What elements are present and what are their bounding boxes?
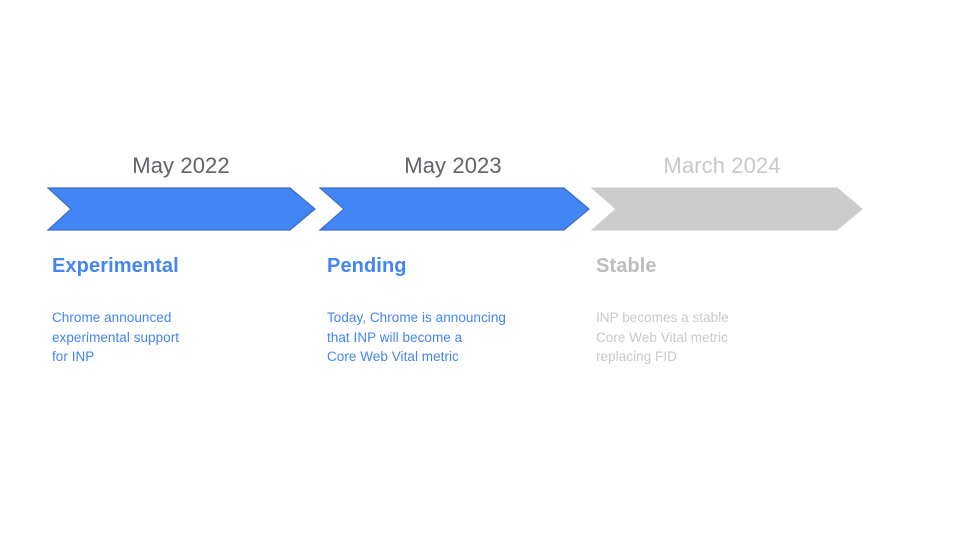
- timeline-step-3: Stable INP becomes a stable Core Web Vit…: [596, 253, 846, 367]
- timeline-canvas: May 2022 May 2023 March 2024 Experimenta…: [0, 0, 960, 540]
- timeline-arrows-svg: [0, 186, 960, 234]
- timeline-date-label-2: May 2023: [404, 153, 501, 179]
- timeline-step-body-3: INP becomes a stable Core Web Vital metr…: [596, 279, 846, 367]
- timeline-step-title-2: Pending: [327, 253, 577, 279]
- timeline-chevron-3[interactable]: [592, 188, 862, 230]
- timeline-date-label-3: March 2024: [663, 153, 780, 179]
- timeline-chevron-1[interactable]: [48, 188, 315, 230]
- timeline-step-title-3: Stable: [596, 253, 846, 279]
- timeline-step-body-1: Chrome announced experimental support fo…: [52, 279, 302, 367]
- timeline-step-1: Experimental Chrome announced experiment…: [52, 253, 302, 367]
- timeline-step-2: Pending Today, Chrome is announcing that…: [327, 253, 577, 367]
- timeline-arrow-band: [0, 186, 960, 234]
- timeline-step-title-1: Experimental: [52, 253, 302, 279]
- timeline-step-body-2: Today, Chrome is announcing that INP wil…: [327, 279, 577, 367]
- timeline-date-label-1: May 2022: [132, 153, 229, 179]
- timeline-chevron-2[interactable]: [320, 188, 589, 230]
